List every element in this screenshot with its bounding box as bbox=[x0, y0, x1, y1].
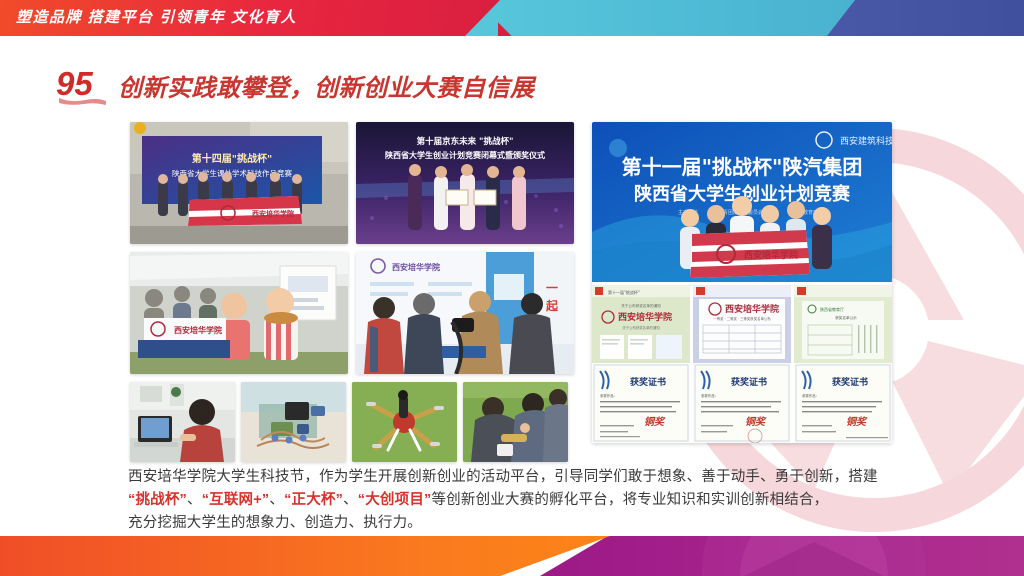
svg-text:95: 95 bbox=[56, 65, 93, 102]
photo-award-ceremony[interactable]: 第十届京东未来 "挑战杯" 陕西省大学生创业计划竞赛闭幕式暨颁奖仪式 bbox=[356, 122, 574, 244]
svg-text:西安培华学院: 西安培华学院 bbox=[174, 325, 222, 335]
photo-circuit-board[interactable] bbox=[241, 382, 346, 462]
paragraph-line-3: 充分挖掘大学生的想象力、创造力、执行力。 bbox=[128, 515, 422, 531]
title-row: 95 创新实践敢攀登，创新创业大赛自信展 bbox=[0, 62, 1024, 108]
sep-3: 、 bbox=[343, 492, 358, 508]
sep-1: 、 bbox=[187, 492, 202, 508]
photo-exhibition-visitors[interactable]: 西安培华学院 一 起 bbox=[356, 252, 574, 374]
svg-text:参赛作品：: 参赛作品： bbox=[600, 393, 617, 398]
anniversary-95-logo: 95 bbox=[56, 64, 110, 106]
svg-text:西安培华学院: 西安培华学院 bbox=[618, 311, 672, 323]
photo-row-3 bbox=[130, 382, 574, 462]
svg-text:铜奖: 铜奖 bbox=[745, 416, 767, 428]
photo-drone-grass[interactable] bbox=[352, 382, 457, 462]
photo-students-assembling[interactable] bbox=[463, 382, 568, 462]
svg-text:西安培华学院: 西安培华学院 bbox=[392, 262, 440, 272]
svg-text:西安培华学院: 西安培华学院 bbox=[725, 303, 779, 315]
svg-text:陕西省大学生创业计划竞赛闭幕式暨颁奖仪式: 陕西省大学生创业计划竞赛闭幕式暨颁奖仪式 bbox=[385, 150, 545, 160]
bottom-decorative-band bbox=[0, 536, 1024, 576]
photo-challenge-cup-group[interactable]: 第十四届"挑战杯" 陕西省大学生课外学术科技作品竞赛 bbox=[130, 122, 348, 244]
footer-arc-decoration bbox=[584, 536, 1024, 576]
svg-text:铜奖: 铜奖 bbox=[846, 416, 868, 428]
svg-text:一等奖 · 二等奖 · 三等奖获奖名单公布: 一等奖 · 二等奖 · 三等奖获奖名单公布 bbox=[713, 316, 771, 321]
right-photo-panel: 西安建筑科技大学 第十一届"挑战杯"陕汽集团 陕西省大学生创业计划竞赛 主办单位… bbox=[592, 122, 892, 443]
svg-text:获奖证书: 获奖证书 bbox=[731, 376, 767, 388]
header-slogan: 塑造品牌 搭建平台 引领青年 文化育人 bbox=[16, 0, 297, 36]
page-title: 创新实践敢攀登，创新创业大赛自信展 bbox=[118, 68, 535, 103]
award-certificate-3[interactable]: 获奖证书 参赛作品： 铜奖 bbox=[794, 363, 892, 443]
certificate-green-2[interactable]: 陕西省教育厅 获奖名单公示 bbox=[794, 285, 892, 363]
certificates-top-row: 第十一届"挑战杯" 关于公布获奖名单的通知 西安培华学院 关于公布获奖名单的通知 bbox=[592, 282, 892, 363]
svg-text:参赛作品：: 参赛作品： bbox=[701, 393, 718, 398]
svg-text:获奖名单公示: 获奖名单公示 bbox=[835, 315, 857, 320]
svg-text:获奖证书: 获奖证书 bbox=[630, 376, 666, 388]
photo-eleventh-challenge-cup[interactable]: 西安建筑科技大学 第十一届"挑战杯"陕汽集团 陕西省大学生创业计划竞赛 主办单位… bbox=[592, 122, 892, 282]
certificates-bottom-row: 获奖证书 参赛作品： 铜奖 获奖证书 参赛作品： 铜奖 bbox=[592, 363, 892, 443]
svg-text:第十一届"挑战杯": 第十一届"挑战杯" bbox=[608, 289, 640, 295]
description-paragraph: 西安培华学院大学生科技节，作为学生开展创新创业的活动平台，引导同学们敢于想象、善… bbox=[128, 466, 900, 535]
paragraph-line-1: 西安培华学院大学生科技节，作为学生开展创新创业的活动平台，引导同学们敢于想象、善… bbox=[128, 469, 878, 485]
svg-text:参赛作品：: 参赛作品： bbox=[802, 393, 819, 398]
svg-text:一: 一 bbox=[546, 281, 558, 295]
photo-row-2: 西安培华学院 西安培华学院 一 bbox=[130, 252, 574, 374]
svg-text:铜奖: 铜奖 bbox=[644, 416, 666, 428]
certificate-green[interactable]: 第十一届"挑战杯" 关于公布获奖名单的通知 西安培华学院 关于公布获奖名单的通知 bbox=[592, 285, 690, 363]
band-segment-cyan bbox=[455, 0, 855, 36]
photo-row-1: 第十四届"挑战杯" 陕西省大学生课外学术科技作品竞赛 bbox=[130, 122, 574, 244]
highlight-zhengda-cup: “正大杯” bbox=[284, 492, 343, 508]
svg-text:起: 起 bbox=[545, 298, 559, 313]
svg-text:西安培华学院: 西安培华学院 bbox=[744, 249, 798, 261]
highlight-challenge-cup: “挑战杯” bbox=[128, 492, 187, 508]
footer-segment-orange bbox=[0, 536, 610, 576]
svg-text:获奖证书: 获奖证书 bbox=[832, 376, 868, 388]
svg-text:第十一届"挑战杯"陕汽集团: 第十一届"挑战杯"陕汽集团 bbox=[622, 155, 863, 179]
svg-text:关于公布获奖名单的通知: 关于公布获奖名单的通知 bbox=[622, 325, 660, 330]
certificate-blue[interactable]: 西安培华学院 一等奖 · 二等奖 · 三等奖获奖名单公布 bbox=[693, 285, 791, 363]
highlight-internet-plus: “互联网+” bbox=[202, 492, 270, 508]
svg-text:西安建筑科技大学: 西安建筑科技大学 bbox=[840, 135, 892, 147]
svg-text:第十四届"挑战杯": 第十四届"挑战杯" bbox=[192, 152, 272, 165]
photo-student-laptop[interactable] bbox=[130, 382, 235, 462]
top-decorative-band: 塑造品牌 搭建平台 引领青年 文化育人 bbox=[0, 0, 1024, 36]
photo-outdoor-booth[interactable]: 西安培华学院 bbox=[130, 252, 348, 374]
award-certificate-2[interactable]: 获奖证书 参赛作品： 铜奖 bbox=[693, 363, 791, 443]
award-certificate-1[interactable]: 获奖证书 参赛作品： 铜奖 bbox=[592, 363, 690, 443]
highlight-dachuang-project: “大创项目” bbox=[358, 492, 432, 508]
paragraph-line-2-tail: 等创新创业大赛的孵化平台，将专业知识和实训创新相结合， bbox=[431, 492, 828, 508]
sep-2: 、 bbox=[269, 492, 284, 508]
left-photo-gallery: 第十四届"挑战杯" 陕西省大学生课外学术科技作品竞赛 bbox=[130, 122, 574, 462]
svg-text:第十届京东未来 "挑战杯": 第十届京东未来 "挑战杯" bbox=[417, 136, 514, 147]
svg-text:西安培华学院: 西安培华学院 bbox=[252, 209, 294, 218]
svg-text:关于公布获奖名单的通知: 关于公布获奖名单的通知 bbox=[621, 303, 661, 308]
svg-text:陕西省教育厅: 陕西省教育厅 bbox=[820, 306, 844, 312]
